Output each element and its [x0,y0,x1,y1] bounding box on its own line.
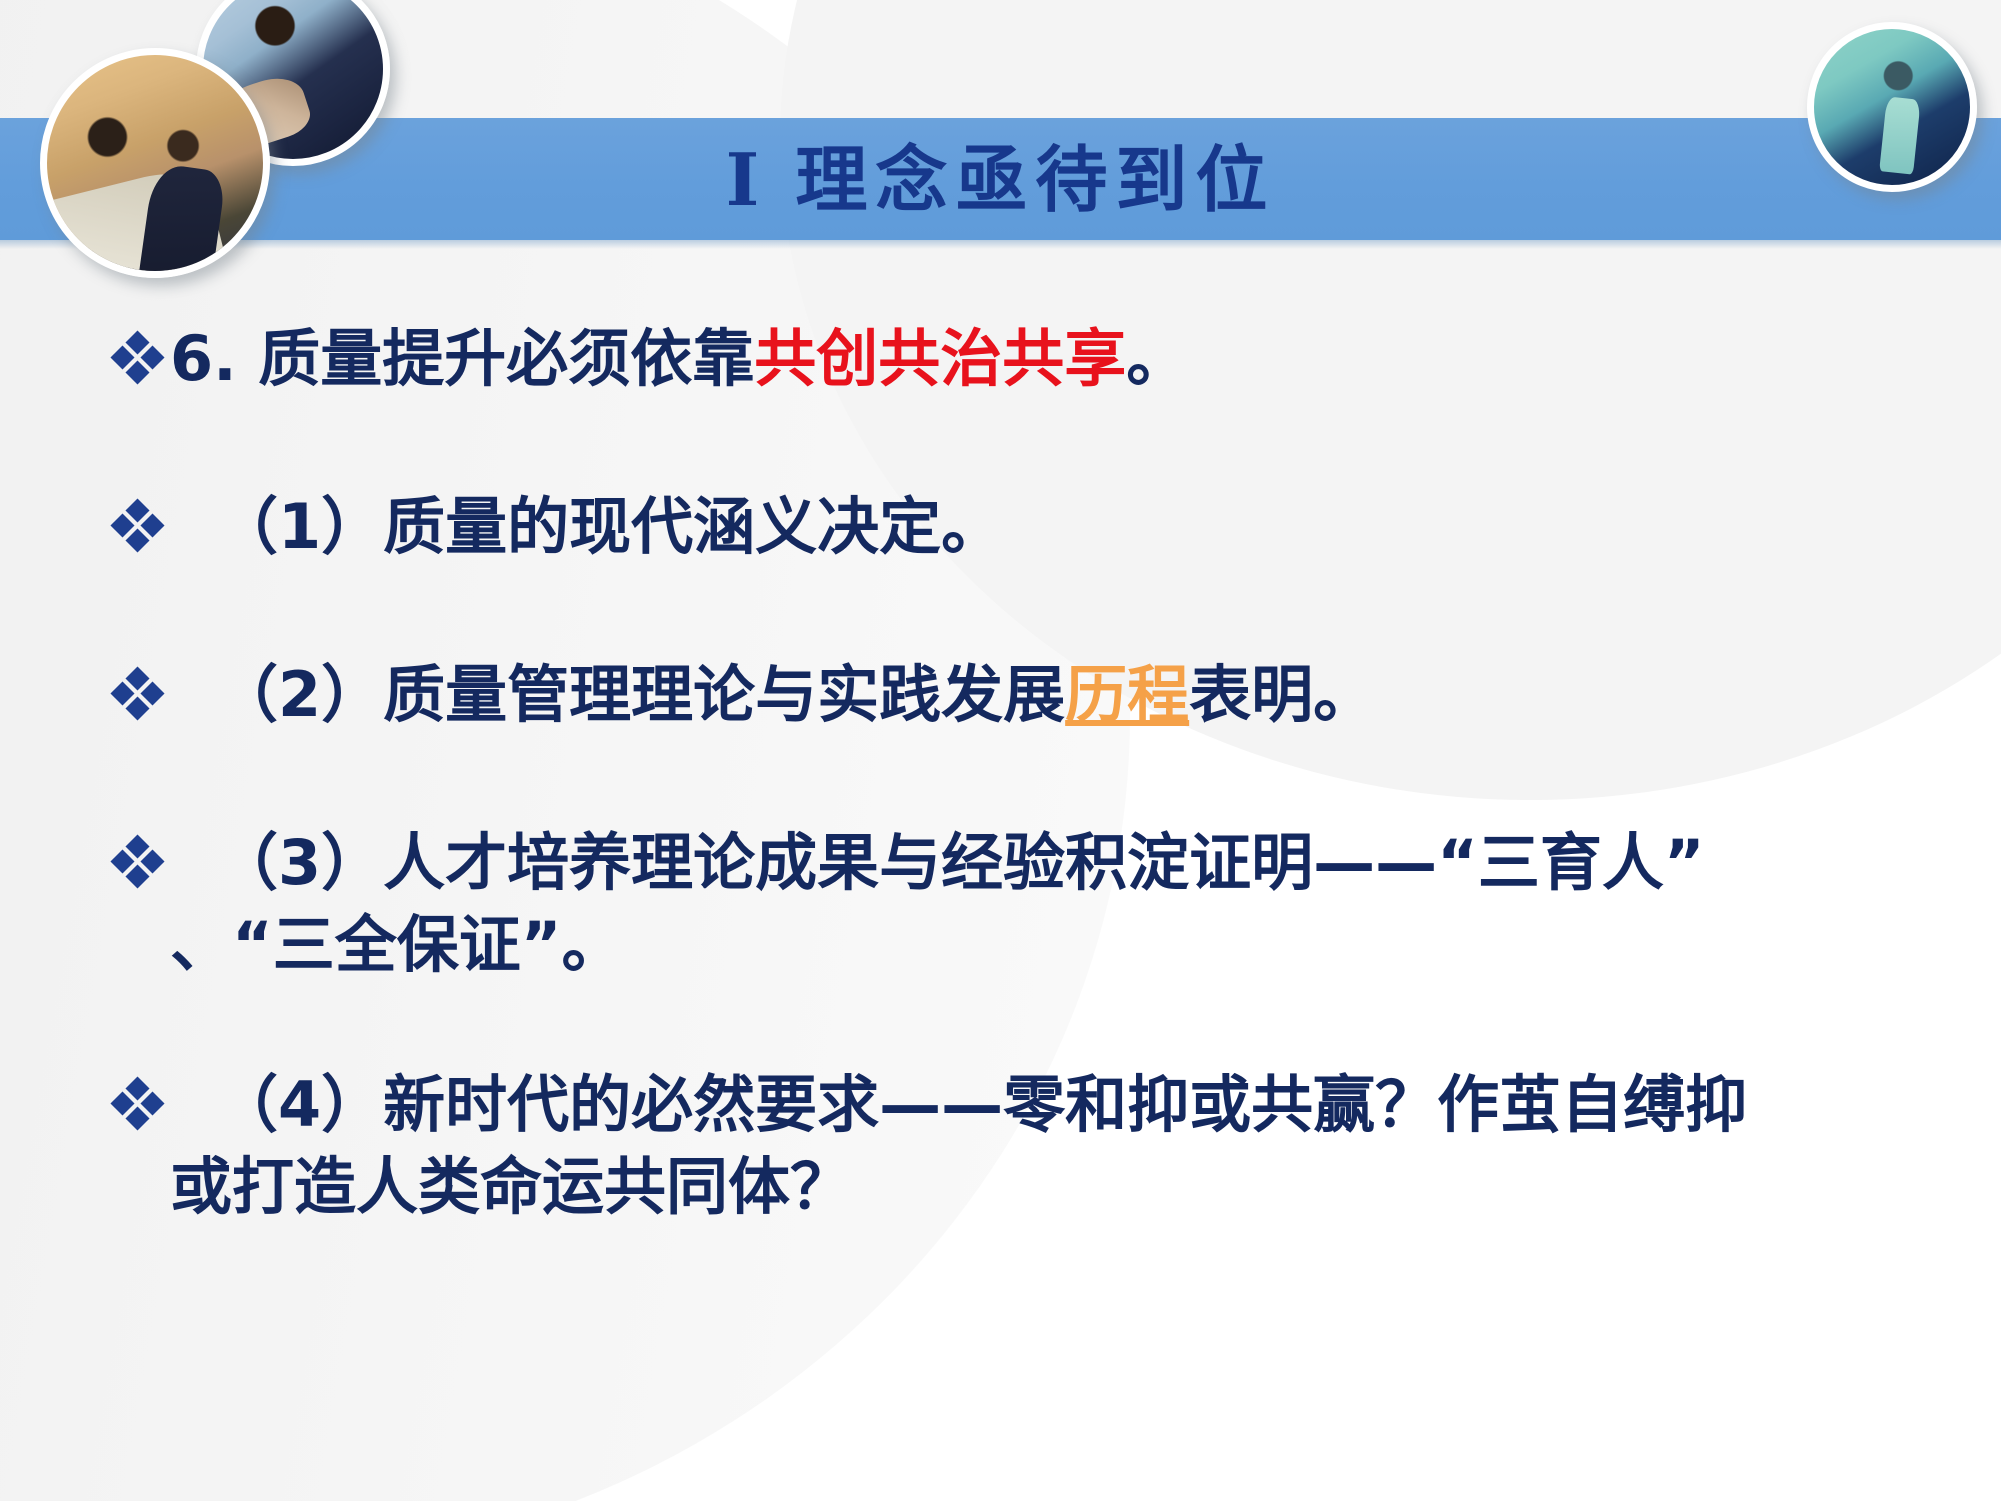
bullet-3-line-1: 、“三全保证”。 [170,904,624,986]
bullet-6-seg-1-red: 共创共治共享 [754,322,1126,395]
title-numeral: Ⅰ [726,137,796,222]
bullet-item-3: （3）人才培养理论成果与经验积淀证明——“三育人” 、“三全保证”。 [0,822,2001,986]
slide-body: 6. 质量提升必须依靠共创共治共享。 （1）质量的现代涵义决定。 （2）质量管理… [0,318,2001,1306]
title-heading: 理念亟待到位 [795,138,1275,222]
diamond-bullet-icon [112,670,164,724]
diamond-bullet-icon [112,838,164,892]
diamond-bullet-icon [112,502,164,556]
slide-canvas: Ⅰ理念亟待到位 6. 质量提升必须依靠共创共治共享。 （1）质量的现代涵义决定。 [0,0,2001,1501]
title-band-shadow [0,240,2001,249]
bullet-3-line-0: （3）人才培养理论成果与经验积淀证明——“三育人” [216,826,1705,899]
bullet-2-seg-1-orange: 历程 [1065,658,1189,731]
bullet-2-seg-2: 表明。 [1189,658,1375,731]
bullet-6-seg-0: 6. 质量提升必须依靠 [170,322,754,395]
bullet-item-4: （4）新时代的必然要求——零和抑或共赢？作茧自缚抑 或打造人类命运共同体？ [0,1064,2001,1228]
bullet-6-seg-2: 。 [1126,322,1188,395]
bullet-text-4: （4）新时代的必然要求——零和抑或共赢？作茧自缚抑 或打造人类命运共同体？ [170,1064,1961,1228]
bullet-text-2: （2）质量管理理论与实践发展历程表明。 [170,654,1961,736]
photo-circle-presenter [1807,22,1977,192]
bullet-item-6: 6. 质量提升必须依靠共创共治共享。 [0,318,2001,400]
bullet-4-line-0: （4）新时代的必然要求——零和抑或共赢？作茧自缚抑 [216,1068,1747,1141]
photo-circle-office-pair [40,48,270,278]
bullet-item-1: （1）质量的现代涵义决定。 [0,486,2001,568]
bullet-1-seg-0: （1）质量的现代涵义决定。 [216,490,1003,563]
bullet-item-2: （2）质量管理理论与实践发展历程表明。 [0,654,2001,736]
bullet-text-1: （1）质量的现代涵义决定。 [170,486,1961,568]
diamond-bullet-icon [112,1080,164,1134]
diamond-bullet-icon [112,334,164,388]
bullet-4-line-1: 或打造人类命运共同体？ [170,1146,852,1228]
bullet-text-6: 6. 质量提升必须依靠共创共治共享。 [170,318,1961,400]
bullet-text-3: （3）人才培养理论成果与经验积淀证明——“三育人” 、“三全保证”。 [170,822,1961,986]
bullet-2-seg-0: （2）质量管理理论与实践发展 [216,658,1065,731]
